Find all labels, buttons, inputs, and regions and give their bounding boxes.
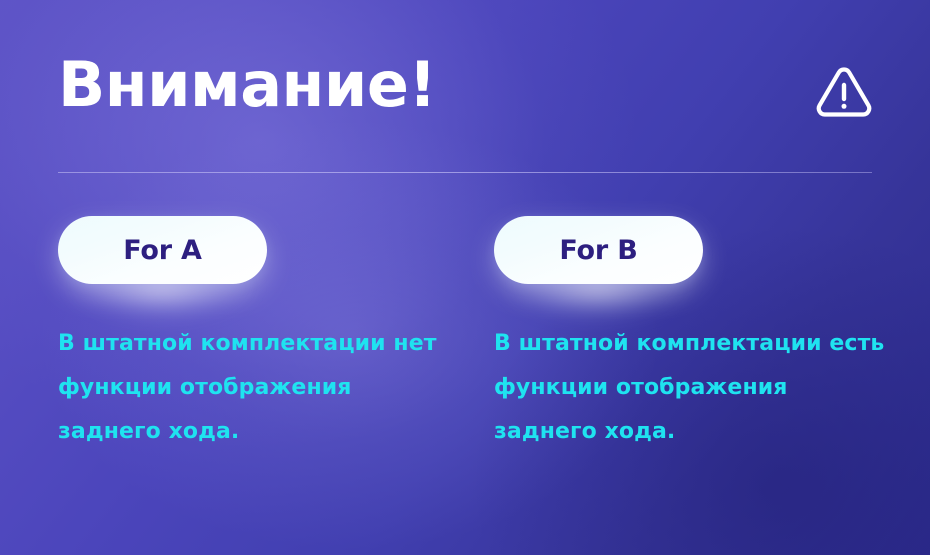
for-b-description: В штатной комплектации есть функции отоб… — [494, 284, 886, 454]
warning-triangle-icon — [812, 60, 876, 124]
pill-wrapper-b: For B — [494, 216, 703, 284]
page-title: Внимание! — [58, 52, 436, 119]
for-a-description: В штатной комплектации нет функции отобр… — [58, 284, 450, 454]
column-for-b: For B В штатной комплектации есть функци… — [494, 216, 894, 454]
pill-wrapper-a: For A — [58, 216, 267, 284]
for-b-button[interactable]: For B — [494, 216, 703, 284]
header-divider — [58, 172, 872, 173]
for-a-button[interactable]: For A — [58, 216, 267, 284]
column-for-a: For A В штатной комплектации нет функции… — [58, 216, 458, 454]
warning-slide: Внимание! For A В штатной комплектации н… — [0, 0, 930, 555]
